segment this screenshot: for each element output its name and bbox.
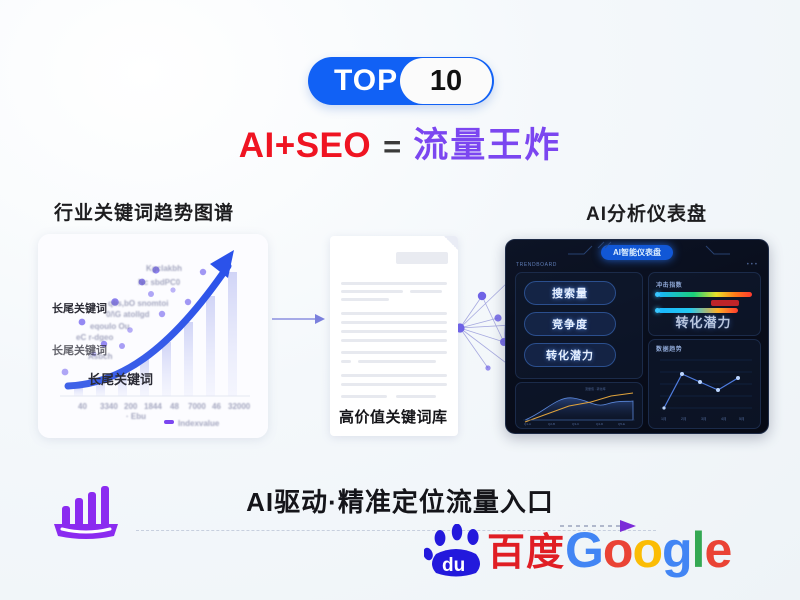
doc-header-block	[396, 252, 448, 264]
x-tick: 32000	[228, 402, 250, 411]
headline-purple: 流量王炸	[413, 126, 561, 165]
top-badge-number: 10	[400, 58, 492, 104]
blurred-label: Asbch	[88, 352, 112, 361]
page-title: AI+SEO=流量王炸	[0, 128, 800, 163]
flow-arrow-icon	[272, 312, 326, 326]
headline-equals: =	[383, 129, 401, 164]
top-rank-badge: TOP 10	[308, 57, 494, 105]
keyword-label: 长尾关键词	[52, 300, 107, 316]
blurred-label: 0/\G atollgd	[106, 310, 150, 319]
doc-text-line	[358, 360, 436, 363]
doc-text-line	[341, 321, 447, 324]
google-letter-o1: o	[603, 522, 633, 578]
doc-text-line	[341, 351, 447, 354]
svg-text:Q5-E: Q5-E	[618, 422, 625, 426]
svg-text:1月: 1月	[661, 416, 667, 421]
blurred-label: eqoulo Ou	[90, 322, 130, 331]
blurred-label: qlis,bO snomtoi	[108, 299, 168, 308]
x-tick: 3340	[100, 402, 118, 411]
google-letter-o2: o	[632, 522, 662, 578]
baidu-du-text: du	[442, 555, 465, 576]
doc-text-line	[341, 298, 389, 301]
doc-text-line	[341, 395, 387, 398]
svg-text:Q1-A: Q1-A	[524, 422, 531, 426]
blurred-label: eC r-dgeo	[76, 333, 113, 342]
svg-text:5月: 5月	[739, 416, 745, 421]
gauge-overlay-label: 转化潜力	[648, 312, 759, 331]
doc-text-line	[341, 282, 447, 285]
ai-dashboard-panel: AI智能仪表盘 TRENDBOARD ••• 搜索量 竞争度 转化潜力 冲击指数…	[505, 239, 769, 434]
svg-text:3月: 3月	[701, 416, 707, 421]
x-tick: 200	[124, 402, 137, 411]
chart-legend: Indexvalue	[178, 419, 219, 428]
right-section-caption: AI分析仪表盘	[586, 199, 707, 226]
doc-text-line	[341, 330, 447, 333]
trend-line-chart: 1月2月 3月4月 5月	[648, 352, 759, 427]
doc-text-line	[410, 290, 442, 293]
gauge-panel-title: 冲击指数	[656, 280, 682, 289]
area-chart-legend: 流量值 · 转化率	[585, 386, 606, 391]
doc-text-line	[341, 339, 447, 342]
doc-text-line	[341, 360, 351, 363]
x-tick: 7000	[188, 402, 206, 411]
google-letter-g2: g	[662, 522, 692, 578]
blurred-label: Nc sbdPC0	[138, 278, 180, 287]
x-tick: 40	[78, 402, 87, 411]
baidu-wordmark: 百度	[487, 534, 565, 572]
area-chart: Q1-AQ2-B Q3-CQ4-DQ5-E 流量值 · 转化率	[515, 382, 641, 427]
axis-note: · Ebu	[126, 412, 146, 421]
doc-text-line	[341, 290, 403, 293]
svg-text:Q4-D: Q4-D	[596, 422, 604, 426]
doc-text-line	[341, 312, 447, 315]
gauge-marker	[655, 292, 660, 297]
metric-pill-search-volume[interactable]: 搜索量	[524, 281, 616, 305]
google-logo: Google	[565, 525, 731, 575]
top-badge-word: TOP	[334, 66, 398, 96]
keyword-library-document: 高价值关键词库	[330, 236, 458, 436]
metric-pill-competition[interactable]: 竞争度	[524, 312, 616, 336]
x-tick: 48	[170, 402, 179, 411]
doc-caption: 高价值关键词库	[339, 406, 448, 427]
google-letter-l: l	[692, 522, 705, 578]
left-section-caption: 行业关键词趋势图谱	[54, 198, 234, 225]
svg-text:2月: 2月	[681, 416, 687, 421]
page-fold-corner	[444, 236, 458, 250]
gauge-bar-primary	[658, 292, 752, 297]
keyword-label: 长尾关键词	[88, 369, 153, 388]
doc-text-line	[341, 374, 447, 377]
metric-pill-conversion[interactable]: 转化潜力	[524, 343, 616, 367]
svg-text:4月: 4月	[721, 416, 727, 421]
baidu-logo: du 百度	[424, 524, 572, 582]
x-tick: 1844	[144, 402, 162, 411]
doc-text-line	[341, 383, 447, 386]
gauge-value-chip	[711, 300, 739, 306]
slide-canvas: TOP 10 AI+SEO=流量王炸 行业关键词趋势图谱 AI分析仪表盘	[0, 0, 800, 600]
doc-text-line	[396, 395, 436, 398]
svg-text:Q2-B: Q2-B	[548, 422, 555, 426]
footer-tagline: AI驱动·精准定位流量入口	[0, 482, 800, 519]
google-letter-g1: G	[565, 522, 603, 578]
headline-red: AI+SEO	[239, 126, 371, 165]
blurred-label: Kgclakbh	[146, 264, 182, 273]
trend-chart-card: 长尾关键词 长尾关键词 长尾关键词 Kgclakbh Nc sbdPC0 qli…	[38, 234, 268, 438]
svg-text:Q3-C: Q3-C	[572, 422, 580, 426]
google-letter-e: e	[704, 522, 731, 578]
x-tick: 46	[212, 402, 221, 411]
